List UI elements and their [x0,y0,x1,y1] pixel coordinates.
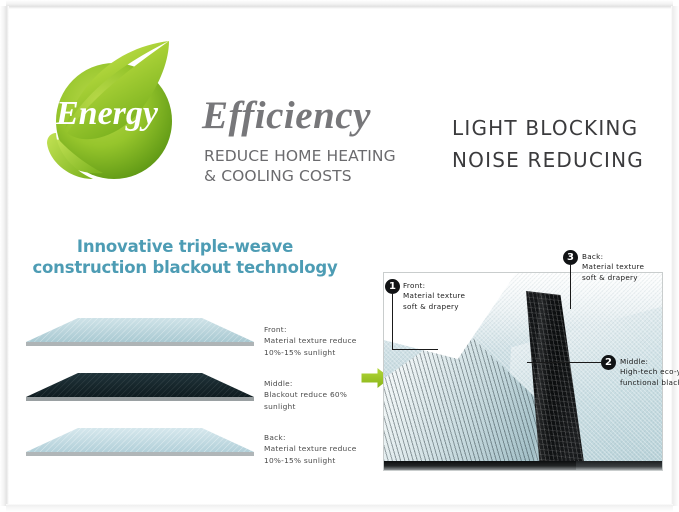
claim-light-blocking: LIGHT BLOCKING [452,116,638,140]
callout-3-leader-vertical [570,265,571,309]
product-claims: LIGHT BLOCKING NOISE REDUCING [452,112,644,176]
headline-line-2: construction blackout technology [32,258,337,277]
callout-3-badge: 3 [563,250,578,265]
layer-label-middle-title: Middle: [264,378,347,389]
callout-3-text: Back: Material texture soft & drapery [582,252,644,283]
layer-swatch-front [26,316,254,350]
layer-label-back-line-1: Material texture reduce [264,443,357,454]
logo-wordmark: Energy [56,97,158,131]
callout-3-line-1: Material texture [582,262,644,271]
layer-label-front-line-2: 10%-15% sunlight [264,347,357,358]
layer-label-back: Back: Material texture reduce 10%-15% su… [264,432,357,466]
layer-label-back-title: Back: [264,432,357,443]
layer-label-back-line-2: 10%-15% sunlight [264,455,357,466]
layer-label-middle-line-2: sunlight [264,401,347,412]
frame-edge-left [0,6,9,506]
brand-subtitle: REDUCE HOME HEATING & COOLING COSTS [204,146,396,186]
product-infographic: Energy Efficiency REDUCE HOME HEATING & … [0,0,679,512]
frame-edge-right [671,6,679,506]
layer-label-middle: Middle: Blackout reduce 60% sunlight [264,378,347,412]
brand-subtitle-line-1: REDUCE HOME HEATING [204,147,396,165]
callout-1-title: Front: [403,281,425,290]
photo-bottom-edge-right [576,461,662,470]
page-headline: Innovative triple-weave construction bla… [20,236,350,278]
callout-3-title: Back: [582,252,603,261]
layer-swatch-middle [26,371,254,405]
callout-1-badge: 1 [385,279,400,294]
callout-1-text: Front: Material texture soft & drapery [403,281,465,312]
callout-2-leader-horizontal [527,362,601,363]
callout-3-line-2: soft & drapery [582,273,638,282]
layer-label-front-line-1: Material texture reduce [264,335,357,346]
headline-line-1: Innovative triple-weave [77,237,293,256]
brand-script-title: Efficiency [202,96,371,135]
layer-label-middle-line-1: Blackout reduce 60% [264,389,347,400]
callout-2-text: Middle: High-tech eco-yarn functional bl… [620,357,679,388]
layer-label-front: Front: Material texture reduce 10%-15% s… [264,324,357,358]
callout-2-line-2: functional blackout [620,378,679,387]
callout-1-line-2: soft & drapery [403,302,459,311]
brand-subtitle-line-2: & COOLING COSTS [204,167,352,185]
layer-label-front-title: Front: [264,324,357,335]
callout-1-line-1: Material texture [403,291,465,300]
frame-edge-bottom [6,504,673,512]
callout-1-leader-vertical [392,294,393,350]
layer-swatch-back [26,426,254,460]
callout-2-title: Middle: [620,357,648,366]
fabric-layer-diagram [26,316,256,471]
frame-edge-top [6,0,673,9]
callout-1-leader-horizontal [392,349,438,350]
callout-2-badge: 2 [601,355,616,370]
claim-noise-reducing: NOISE REDUCING [452,148,644,172]
callout-2-line-1: High-tech eco-yarn [620,367,679,376]
